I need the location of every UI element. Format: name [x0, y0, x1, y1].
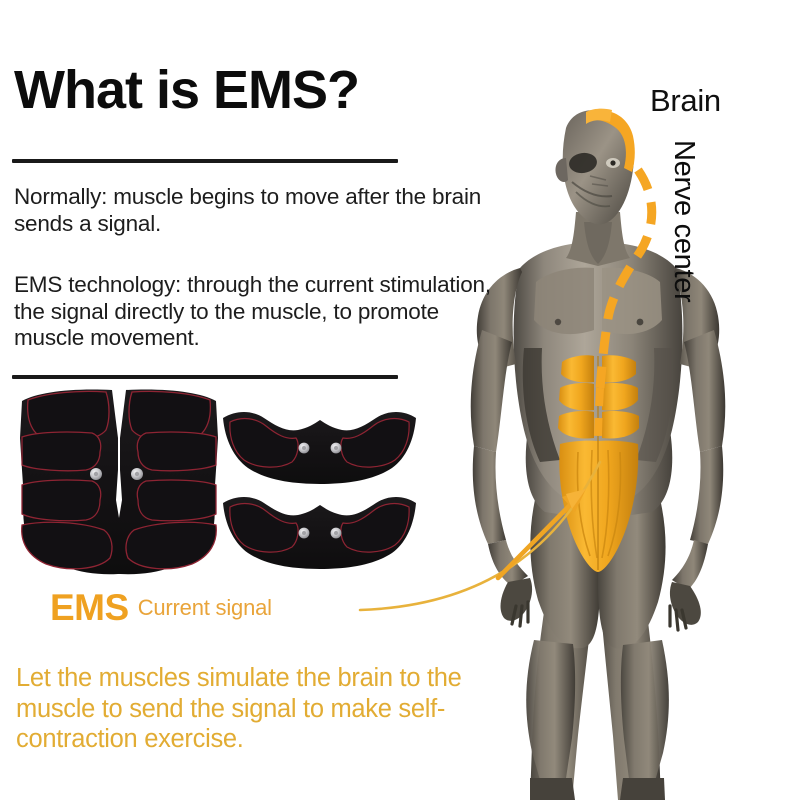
divider-top — [12, 159, 398, 163]
plus-hexagon-icon — [281, 595, 306, 620]
footer-statement: Let the muscles simulate the brain to th… — [16, 663, 516, 755]
divider-middle — [12, 375, 398, 379]
current-signal-text: Current signal — [138, 597, 272, 619]
ems-current-signal-label: EMS Current signal — [50, 589, 306, 626]
ems-brand-text: EMS — [50, 589, 129, 626]
infographic-page: What is EMS? Normally: muscle begins to … — [0, 0, 800, 800]
abdominal-pad — [20, 389, 218, 574]
paragraph-ems-technology: EMS technology: through the current stim… — [14, 272, 504, 352]
arm-pad-lower — [223, 497, 416, 569]
brain-label: Brain — [650, 83, 721, 119]
nerve-center-label: Nerve center — [667, 140, 700, 302]
page-title: What is EMS? — [14, 63, 359, 117]
arm-pad-upper — [223, 412, 416, 484]
paragraph-normally: Normally: muscle begins to move after th… — [14, 184, 484, 237]
